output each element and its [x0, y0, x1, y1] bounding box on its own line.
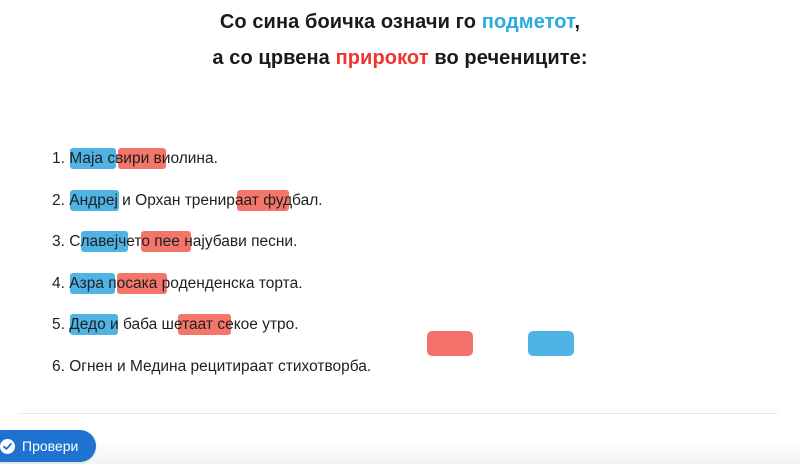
answer-chip-blue[interactable]	[528, 331, 574, 356]
sentence-number: 6.	[52, 346, 65, 388]
sentence-number: 5.	[52, 304, 65, 346]
sentence-row[interactable]: 4. Азра посака роденденска торта.	[52, 263, 752, 305]
footer-divider	[18, 413, 778, 414]
sentence-text[interactable]: Дедо и баба шетаат секое утро.	[69, 304, 298, 346]
page-title: Со сина боичка означи го подметот, а со …	[0, 4, 800, 76]
sentence-text[interactable]: Маја свири виолина.	[69, 138, 218, 180]
sentence-row[interactable]: 2. Андреј и Орхан тренираат фудбал.	[52, 180, 752, 222]
sentence-list: 1. Маја свири виолина. 2. Андреј и Орхан…	[52, 138, 752, 387]
sentence-number: 1.	[52, 138, 65, 180]
sentence-number: 2.	[52, 180, 65, 222]
sentence-row[interactable]: 6. Огнен и Медина рецитираат стихотворба…	[52, 346, 752, 388]
footer-band	[0, 440, 800, 464]
title-keyword-predicate: прирокот	[336, 47, 429, 69]
title-keyword-subject: подметот	[482, 11, 575, 33]
sentence-row[interactable]: 5. Дедо и баба шетаат секое утро.	[52, 304, 752, 346]
worksheet-page: Со сина боичка означи го подметот, а со …	[0, 0, 800, 464]
sentence-text[interactable]: Азра посака роденденска торта.	[69, 263, 302, 305]
sentence-text[interactable]: Огнен и Медина рецитираат стихотворба.	[69, 346, 371, 388]
sentence-number: 3.	[52, 221, 65, 263]
title-line-1: Со сина боичка означи го подметот,	[0, 4, 800, 40]
title-line-1-prefix: Со сина боичка означи го	[220, 11, 482, 33]
sentence-text[interactable]: Славејчето пее најубави песни.	[69, 221, 297, 263]
answer-chip-red[interactable]	[427, 331, 473, 356]
check-circle-icon	[0, 439, 15, 454]
check-button-label: Провери	[22, 439, 78, 453]
check-button[interactable]: Провери	[0, 430, 96, 462]
sentence-number: 4.	[52, 263, 65, 305]
title-line-2: а со црвена прирокот во речениците:	[0, 40, 800, 76]
sentence-text[interactable]: Андреј и Орхан тренираат фудбал.	[69, 180, 322, 222]
title-line-2-suffix: во речениците:	[429, 47, 588, 69]
title-line-2-prefix: а со црвена	[212, 47, 335, 69]
sentence-row[interactable]: 1. Маја свири виолина.	[52, 138, 752, 180]
sentence-row[interactable]: 3. Славејчето пее најубави песни.	[52, 221, 752, 263]
title-line-1-suffix: ,	[575, 11, 581, 33]
